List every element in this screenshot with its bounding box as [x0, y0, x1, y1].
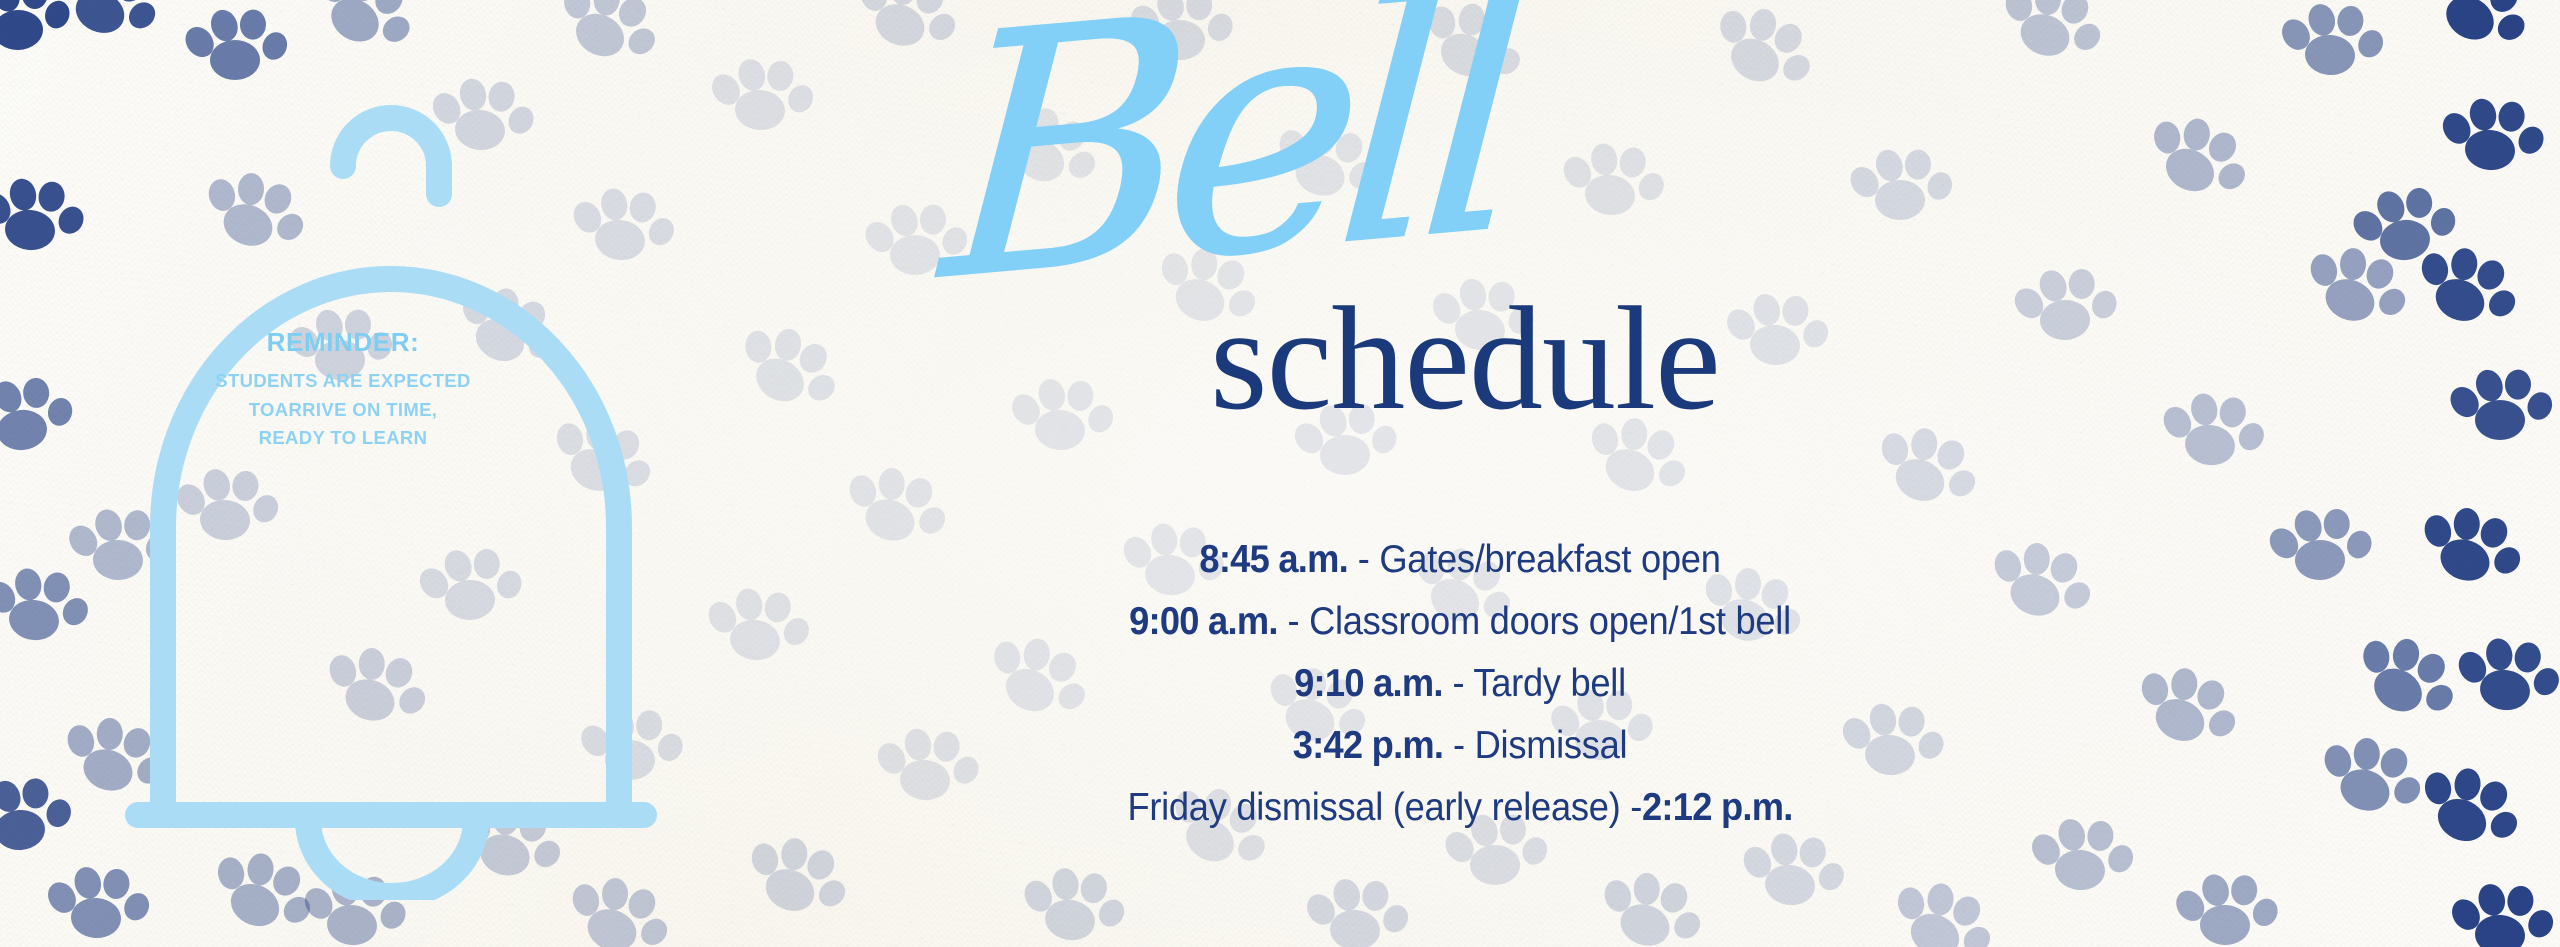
- schedule-time: 9:10 a.m.: [1294, 662, 1443, 705]
- schedule-row: 9:10 a.m. - Tardy bell: [809, 664, 2111, 703]
- reminder-title: REMINDER:: [178, 325, 508, 360]
- schedule-separator: -: [1278, 600, 1309, 643]
- headline-block: Bell schedule: [960, 0, 1960, 520]
- bell-schedule-banner: REMINDER: STUDENTS ARE EXPECTED TOARRIVE…: [0, 0, 2560, 947]
- reminder-text-block: REMINDER: STUDENTS ARE EXPECTED TOARRIVE…: [178, 325, 508, 455]
- reminder-line-2: TOARRIVE ON TIME,: [178, 398, 508, 423]
- bell-illustration: REMINDER: STUDENTS ARE EXPECTED TOARRIVE…: [60, 70, 780, 900]
- schedule-row: Friday dismissal (early release) -2:12 p…: [809, 788, 2111, 827]
- schedule-description: Gates/breakfast open: [1379, 538, 1720, 581]
- bell-outline-icon: [138, 118, 644, 896]
- schedule-description: Friday dismissal (early release): [1127, 786, 1620, 829]
- reminder-line-1: STUDENTS ARE EXPECTED: [178, 369, 508, 394]
- schedule-time: 8:45 a.m.: [1199, 538, 1348, 581]
- schedule-separator: -: [1348, 538, 1379, 581]
- schedule-time: 3:42 p.m.: [1293, 724, 1444, 767]
- schedule-separator: -: [1443, 662, 1474, 705]
- schedule-time: 2:12 p.m.: [1642, 786, 1793, 829]
- schedule-row: 9:00 a.m. - Classroom doors open/1st bel…: [809, 602, 2111, 641]
- schedule-list: 8:45 a.m. - Gates/breakfast open 9:00 a.…: [760, 540, 2160, 827]
- reminder-line-3: READY TO LEARN: [178, 426, 508, 451]
- headline-serif-word: schedule: [1210, 285, 1720, 433]
- schedule-row: 8:45 a.m. - Gates/breakfast open: [809, 540, 2111, 579]
- schedule-row: 3:42 p.m. - Dismissal: [809, 726, 2111, 765]
- schedule-separator: -: [1443, 724, 1474, 767]
- schedule-description: Tardy bell: [1473, 662, 1625, 705]
- schedule-description: Dismissal: [1475, 724, 1628, 767]
- schedule-time: 9:00 a.m.: [1129, 600, 1278, 643]
- schedule-separator: -: [1620, 786, 1642, 829]
- schedule-description: Classroom doors open/1st bell: [1309, 600, 1791, 643]
